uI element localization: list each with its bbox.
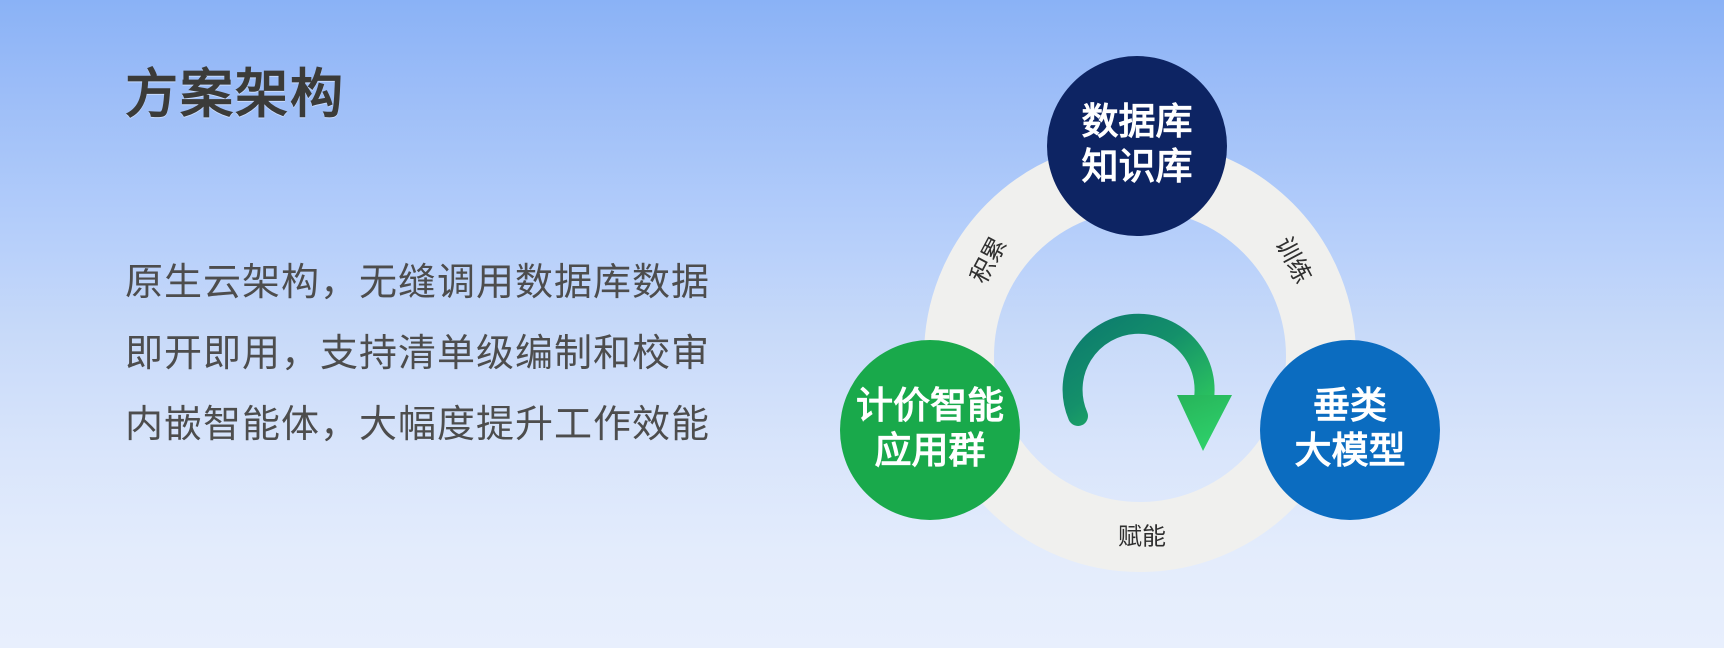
node-database-line-1: 数据库	[1082, 101, 1193, 142]
node-pricing-apps[interactable]: 计价智能 应用群	[840, 340, 1020, 520]
text-column: 方案架构 原生云架构，无缝调用数据库数据 即开即用，支持清单级编制和校审 内嵌智…	[125, 66, 845, 461]
cycle-diagram: 积累 训练 赋能 数据库 知识库 计价智能 应用群	[820, 18, 1470, 618]
cycle-diagram-svg: 积累 训练 赋能 数据库 知识库 计价智能 应用群	[820, 18, 1470, 618]
slide-canvas: 方案架构 原生云架构，无缝调用数据库数据 即开即用，支持清单级编制和校审 内嵌智…	[0, 0, 1724, 648]
node-vertical-model[interactable]: 垂类 大模型	[1260, 340, 1440, 520]
page-title: 方案架构	[125, 66, 845, 124]
arc-label-empower: 赋能	[1118, 523, 1166, 550]
node-database-line-2: 知识库	[1082, 146, 1193, 187]
body-line-2: 即开即用，支持清单级编制和校审	[125, 319, 845, 390]
arc-label-empower-text: 赋能	[1118, 523, 1166, 550]
body-line-3: 内嵌智能体，大幅度提升工作效能	[125, 390, 845, 461]
node-database[interactable]: 数据库 知识库	[1047, 56, 1227, 236]
node-vertical-model-line-2: 大模型	[1295, 430, 1406, 471]
node-vertical-model-line-1: 垂类	[1313, 385, 1387, 426]
node-pricing-apps-line-1: 计价智能	[856, 385, 1004, 426]
body-line-1: 原生云架构，无缝调用数据库数据	[125, 248, 845, 319]
cycle-arrow-head	[1177, 395, 1232, 451]
cycle-arrow-icon	[1073, 324, 1232, 451]
node-pricing-apps-line-2: 应用群	[875, 430, 986, 471]
body-text-block: 原生云架构，无缝调用数据库数据 即开即用，支持清单级编制和校审 内嵌智能体，大幅…	[125, 248, 845, 461]
